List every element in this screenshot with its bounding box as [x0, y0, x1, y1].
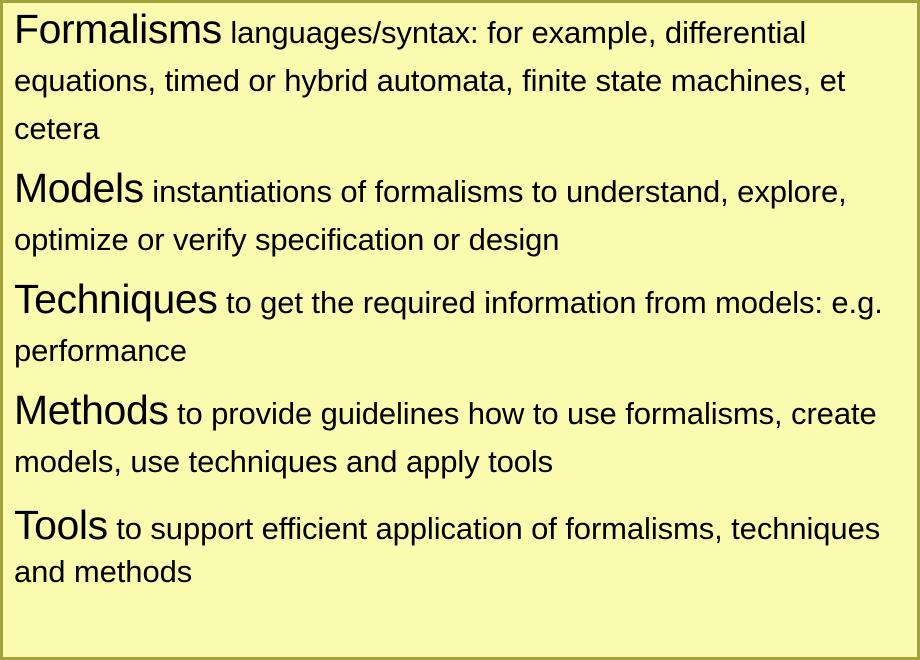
definition-term: Methods — [14, 387, 168, 433]
definition-list: Formalisms languages/syntax: for example… — [14, 9, 898, 593]
definition-term: Tools — [14, 502, 108, 548]
definition-entry-models: Models instantiations of formalisms to u… — [14, 168, 898, 264]
definition-entry-tools: Tools to support efficient application o… — [14, 505, 898, 593]
definition-entry-techniques: Techniques to get the required informati… — [14, 279, 898, 375]
definition-description: to support efficient application of form… — [14, 511, 880, 589]
slide-panel: Formalisms languages/syntax: for example… — [0, 0, 920, 660]
definition-entry-formalisms: Formalisms languages/syntax: for example… — [14, 9, 898, 153]
definition-term: Formalisms — [14, 6, 222, 52]
definition-term: Techniques — [14, 276, 217, 322]
definition-term: Models — [14, 165, 144, 211]
definition-entry-methods: Methods to provide guidelines how to use… — [14, 390, 898, 486]
